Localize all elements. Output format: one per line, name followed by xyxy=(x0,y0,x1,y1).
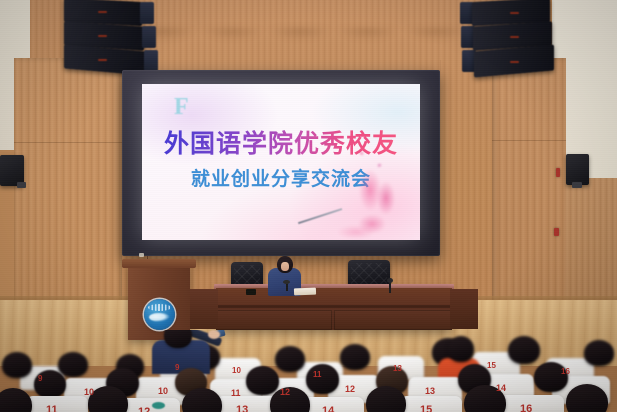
screen-wall-plate xyxy=(139,253,144,257)
head-table-lip xyxy=(216,305,452,308)
sailboat-decoration-icon xyxy=(298,142,418,240)
audience-head xyxy=(448,336,474,362)
seat-number: 13 xyxy=(236,404,248,412)
microphone-stand xyxy=(286,283,288,291)
audience-head xyxy=(566,384,608,412)
audience-head xyxy=(0,388,32,412)
microphone-head-icon xyxy=(283,280,290,284)
seat-number: 16 xyxy=(520,403,532,412)
head-table-extension-left xyxy=(190,289,218,329)
seat-number: 12 xyxy=(280,387,290,397)
documents-on-table xyxy=(294,288,316,296)
seat-number: 10 xyxy=(84,387,94,397)
led-projection-screen: F 外国语学院优秀校友 就业创业分享交流会 xyxy=(122,70,440,256)
audience-seating: 99101113151610101112121314111213141516 xyxy=(0,330,617,412)
line-array-speaker-right xyxy=(460,0,560,76)
seat-number: 12 xyxy=(345,384,355,394)
seat-number: 13 xyxy=(425,386,435,396)
head-table-panel-left xyxy=(216,310,332,330)
wall-speaker-bracket-right xyxy=(572,182,582,188)
audience-head xyxy=(306,364,339,394)
secondary-microphone xyxy=(389,281,391,293)
seat-number: 9 xyxy=(175,363,179,372)
hair-accessory xyxy=(152,402,165,409)
seat-number: 14 xyxy=(322,405,334,412)
seat-number: 9 xyxy=(38,374,42,383)
seat-number: 10 xyxy=(232,366,241,375)
head-table-extension-right xyxy=(450,289,478,329)
seat-number: 12 xyxy=(138,406,150,412)
screen-content: F 外国语学院优秀校友 就业创业分享交流会 xyxy=(142,84,420,240)
seat-number: 11 xyxy=(313,370,321,379)
seat-number: 13 xyxy=(393,364,402,373)
audience-head xyxy=(508,336,540,364)
university-emblem-icon xyxy=(144,299,175,330)
audience-head xyxy=(246,366,279,395)
desk-object xyxy=(246,289,256,295)
letter-watermark-icon: F xyxy=(174,94,188,121)
auditorium-photo: F 外国语学院优秀校友 就业创业分享交流会 xyxy=(0,0,617,412)
audience-head xyxy=(275,346,305,372)
podium-top xyxy=(122,259,196,268)
audience-head xyxy=(58,352,88,377)
seat-number: 11 xyxy=(46,404,58,412)
wall-speaker-right xyxy=(566,154,589,185)
fire-alarm-upper xyxy=(556,168,560,177)
seat-number: 11 xyxy=(231,388,241,398)
seat-number: 15 xyxy=(420,404,432,412)
seat-number: 14 xyxy=(496,383,506,393)
head-table-panel-right xyxy=(334,310,452,330)
line-array-speaker-left xyxy=(64,0,164,72)
audience-head xyxy=(584,340,614,366)
hand xyxy=(208,330,220,339)
panel-seam xyxy=(492,140,566,141)
audience-head xyxy=(2,352,32,378)
audience-head xyxy=(340,344,370,370)
seat-number: 16 xyxy=(561,367,570,376)
ceiling-scallop-shadow xyxy=(130,28,470,62)
podium xyxy=(128,265,190,340)
panel-seam xyxy=(14,142,122,143)
seat-number: 15 xyxy=(487,361,496,370)
seated-speaker-face xyxy=(281,262,289,271)
seat-number: 10 xyxy=(158,386,168,396)
fire-alarm-lower xyxy=(554,228,559,236)
wall-speaker-bracket-left xyxy=(17,182,26,188)
